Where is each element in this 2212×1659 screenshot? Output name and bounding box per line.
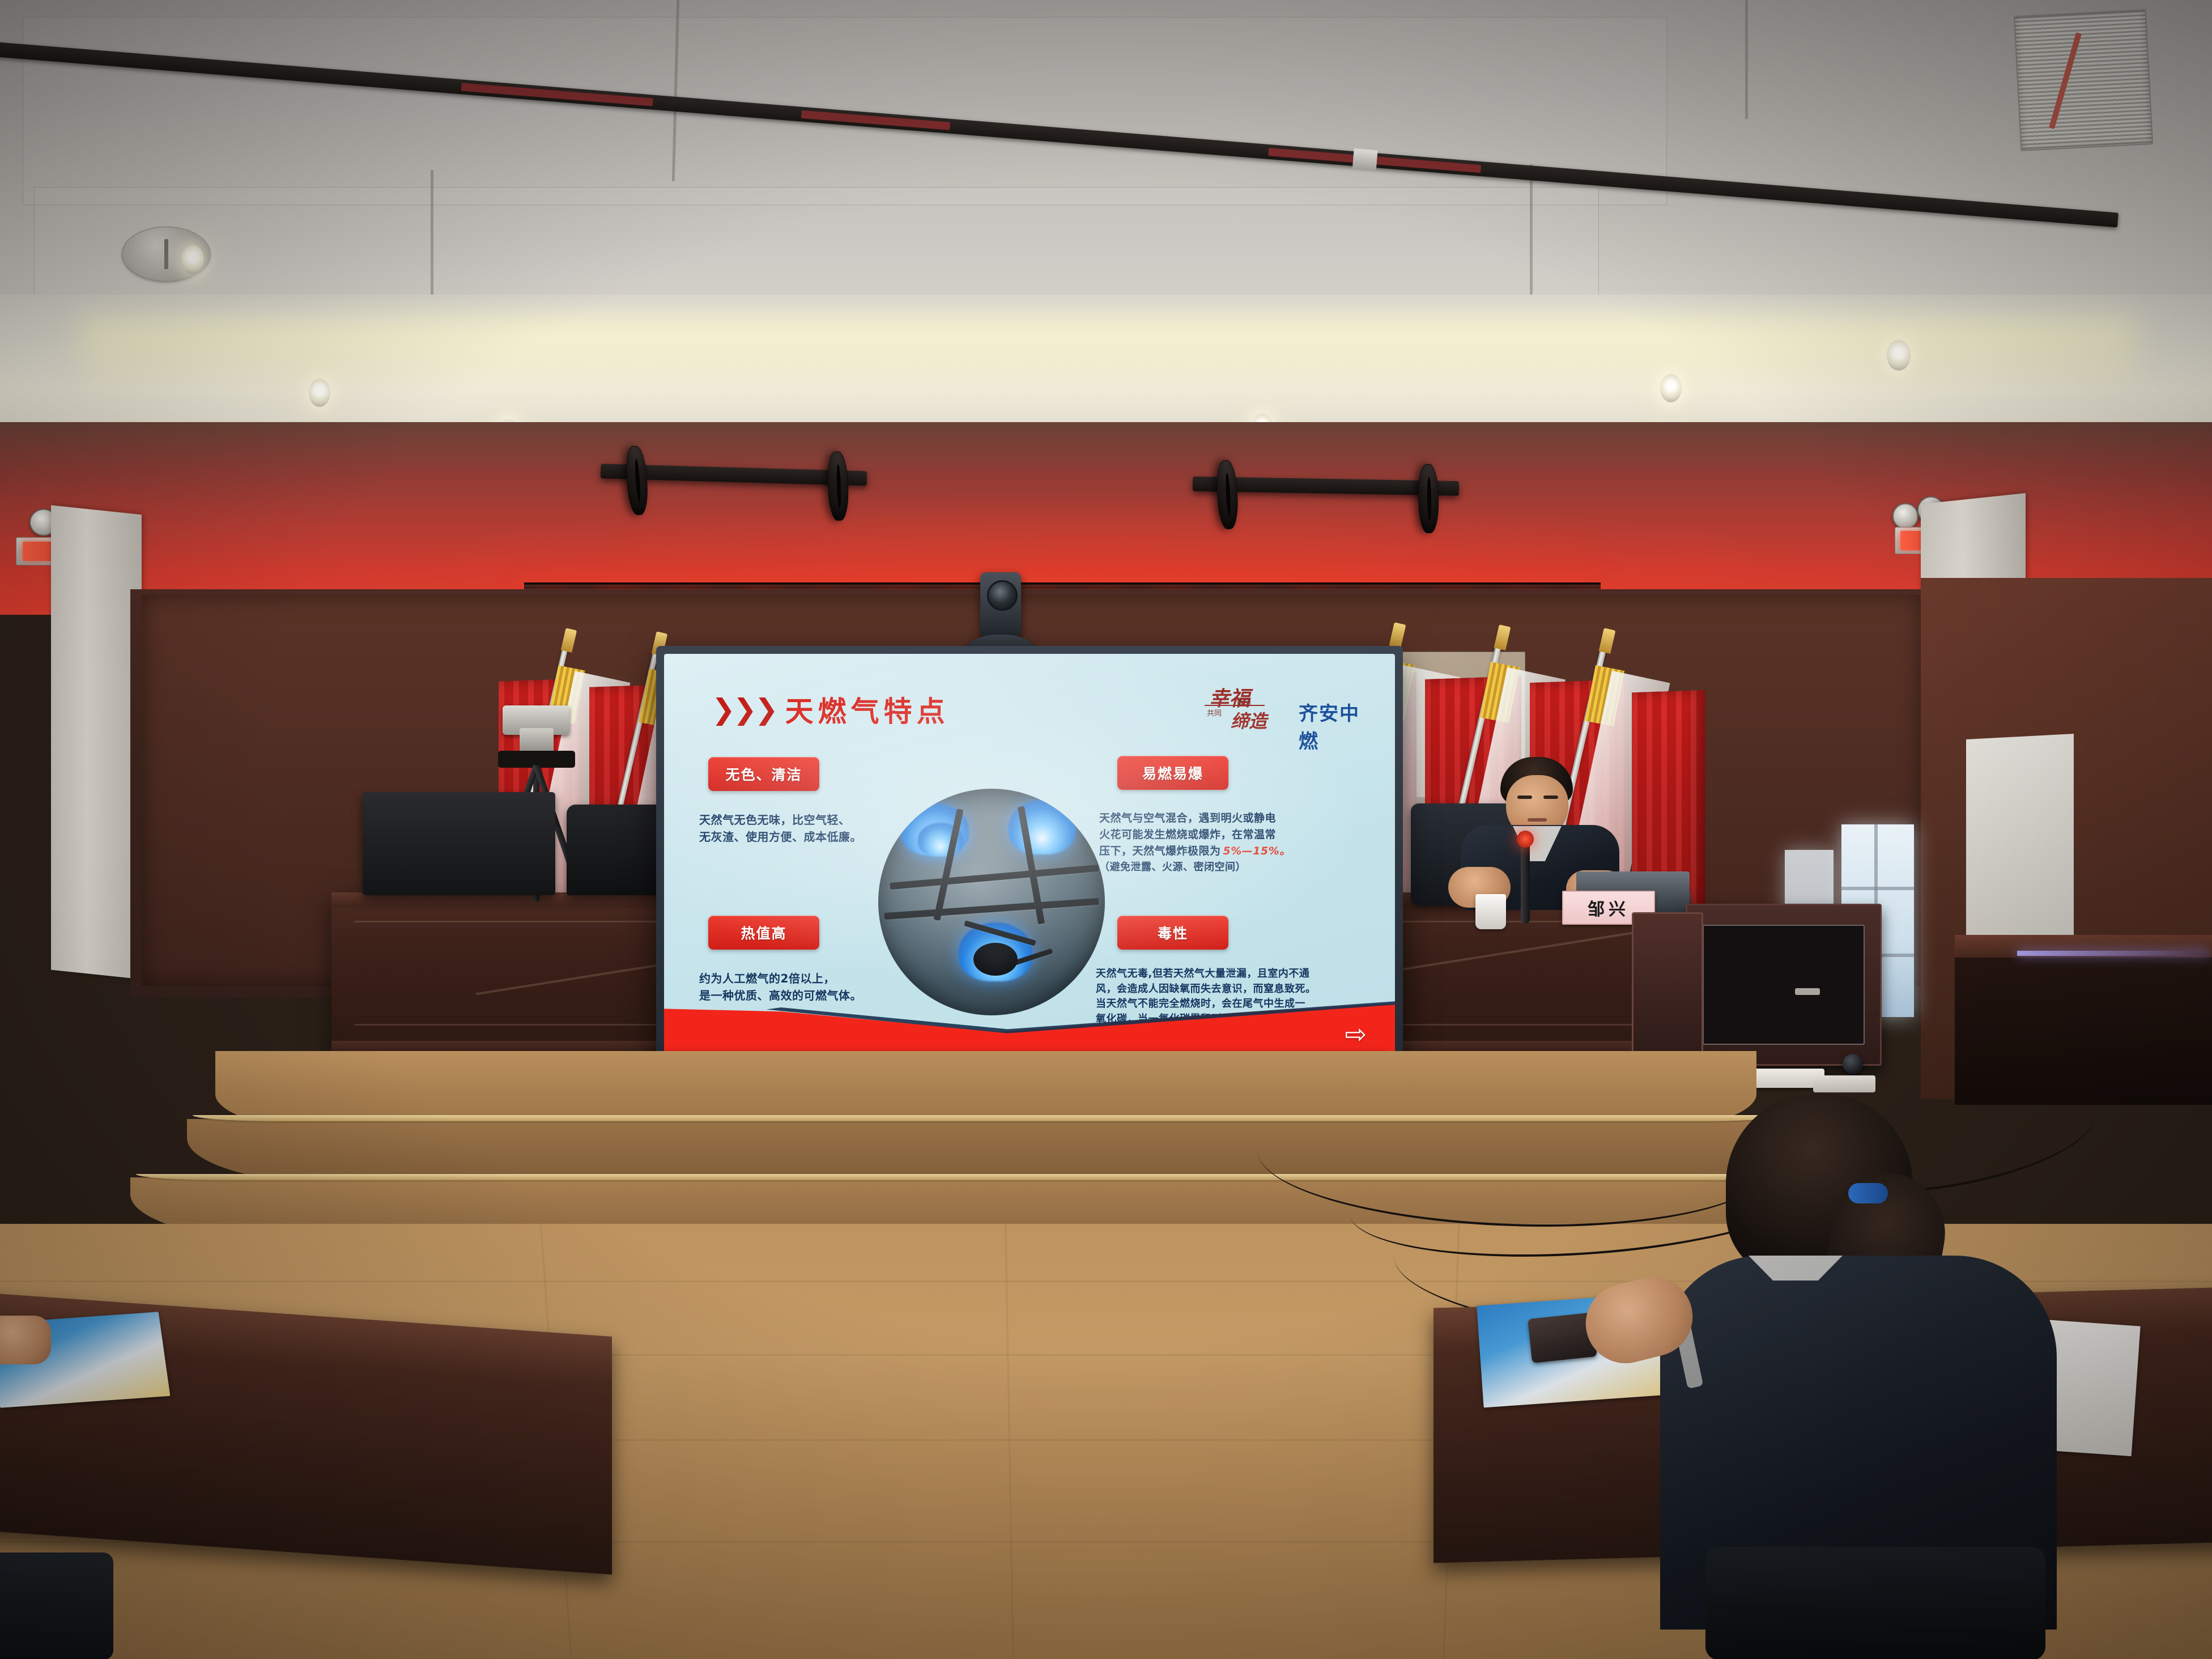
wall-pillar-left: [51, 505, 142, 980]
logo-brand: 齐安中燃: [1299, 698, 1373, 754]
chair-left-foreground: [0, 1552, 113, 1659]
slide-text-flammable: 天然气与空气混合，遇到明火或静电 火花可能发生燃烧或爆炸，在常温常 压下，天然气…: [1099, 810, 1303, 875]
camera-lens-icon: [987, 580, 1018, 611]
slide-pill-colorless: 无色、清洁: [708, 757, 819, 791]
audience-hand-left: [0, 1316, 51, 1364]
slide-logo: 幸福 黄冈 共同 缔造 齐安中燃: [1203, 681, 1373, 738]
slide-pill-flammable: 易燃易爆: [1117, 756, 1228, 790]
hair-tie: [1848, 1183, 1888, 1203]
speaker-cabinet: [363, 792, 555, 895]
explosion-limit-value: 5%—15%。: [1223, 843, 1291, 860]
ceiling-downlight: [181, 245, 204, 274]
slide-text-colorless: 天然气无色无味，比空气轻、 无灰渣、使用方便、成本低廉。: [699, 811, 886, 846]
audience-person-foreground: [1637, 1094, 2125, 1659]
logo-small-top: 黄冈: [1236, 697, 1251, 708]
ceiling-downlight: [1887, 340, 1911, 371]
ac-vent-ceiling-right: [2014, 9, 2153, 151]
equipment-road-case: [1686, 904, 1882, 1066]
nameplate-text: 邹兴: [1588, 895, 1630, 920]
presentation-slide: ❯❯❯ 天燃气特点 幸福 黄冈 共同 缔造 齐安中燃: [664, 654, 1395, 1062]
conference-room-photo: 赤壁街道天然气用气安全用气培训会: [0, 0, 2212, 1659]
slide-title: 天燃气特点: [785, 689, 950, 730]
logo-script-sub: 缔造: [1231, 707, 1267, 733]
right-wall-lower: [1955, 958, 2212, 1105]
power-strip: [1813, 1075, 1875, 1092]
accent-light-strip: [2017, 951, 2210, 956]
stage-spotlight: [1418, 464, 1439, 534]
paper-cup: [1475, 894, 1506, 929]
slide-title-row: ❯❯❯ 天燃气特点: [712, 689, 1108, 730]
gas-stove-photo: [878, 789, 1105, 1015]
ceiling-downlight: [1660, 374, 1682, 402]
display-panel: ❯❯❯ 天燃气特点 幸福 黄冈 共同 缔造 齐安中燃: [664, 654, 1395, 1062]
interactive-display[interactable]: ❯❯❯ 天燃气特点 幸福 黄冈 共同 缔造 齐安中燃: [656, 646, 1403, 1070]
microphone-led: [1517, 831, 1534, 848]
caster-wheel: [1843, 1054, 1863, 1074]
road-case-rear: [1632, 912, 1703, 1057]
cove-light-glow: [79, 317, 2136, 385]
conference-camera: [980, 572, 1021, 638]
logo-small-bottom: 共同: [1207, 707, 1222, 718]
chevron-triple-icon: ❯❯❯: [712, 693, 776, 726]
slide-pill-toxicity: 毒性: [1117, 916, 1228, 950]
slide-pill-calorific: 热值高: [708, 916, 819, 950]
audience-chair: [1705, 1547, 2045, 1659]
emergency-lamp-icon: [1892, 503, 1919, 529]
road-case-door: [1703, 925, 1865, 1045]
next-slide-arrow-icon: ⇨: [1345, 1021, 1367, 1047]
right-wall-plaster-panel: [1966, 734, 2074, 955]
ceiling-downlight: [309, 378, 330, 407]
